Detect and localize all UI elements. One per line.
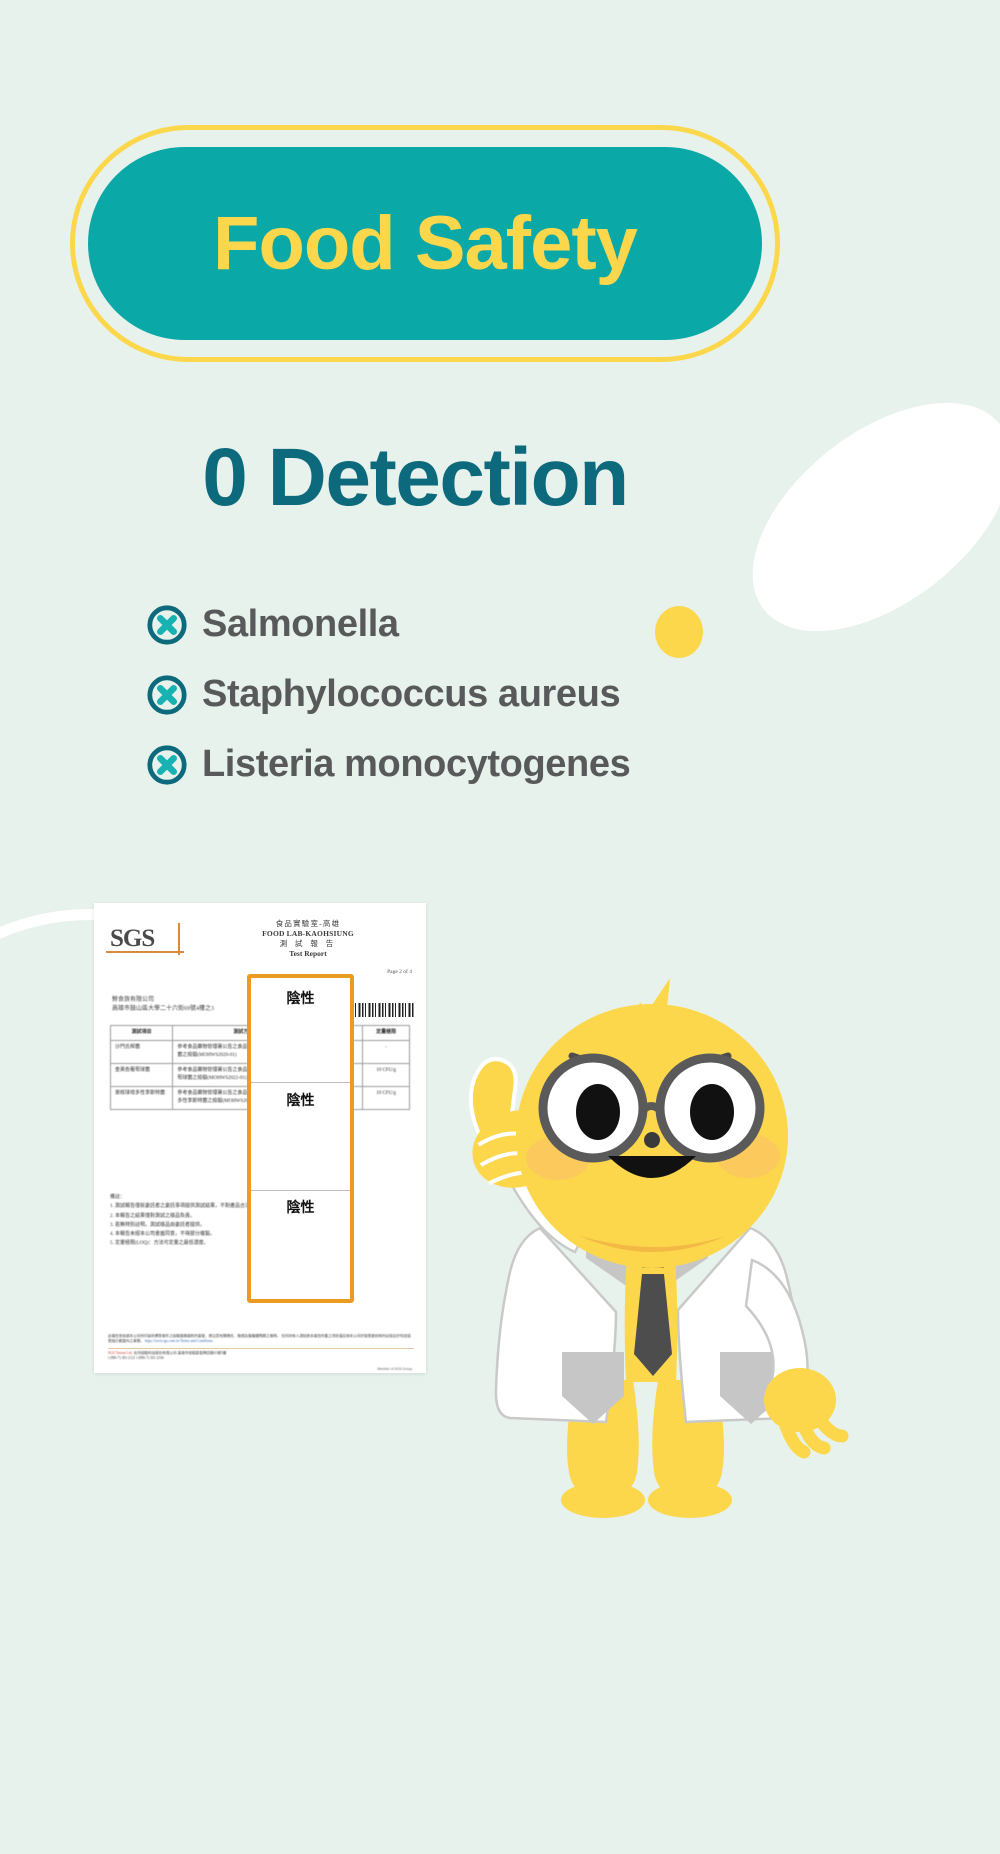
document-title-block: 食品實驗室-高雄 FOOD LAB-KAOHSIUNG 測 試 報 告 Test… bbox=[218, 919, 398, 959]
sgs-logo: SGS bbox=[110, 925, 154, 953]
table-header-cell: 測試項目 bbox=[111, 1026, 173, 1041]
document-footer-company: SGS Taiwan Ltd. 台灣檢驗科技股份有限公司 高雄市前鎮區復興四路6… bbox=[108, 1351, 414, 1367]
table-cell-item: 單核球增多性李斯特菌 bbox=[111, 1087, 173, 1110]
page-title: 0 Detection bbox=[0, 437, 830, 519]
circle-x-icon bbox=[146, 674, 188, 716]
document-header: SGS 食品實驗室-高雄 FOOD LAB-KAOHSIUNG 測 試 報 告 … bbox=[94, 903, 426, 975]
address-line-1: 鮮食族有限公司 bbox=[112, 996, 214, 1005]
footer-phone: t (886-7) 301-2121 f (886-7) 301-2166 bbox=[108, 1356, 414, 1361]
footer-company-address: 台灣檢驗科技股份有限公司 高雄市前鎮區復興四路61號5樓 bbox=[134, 1351, 227, 1355]
negative-results-highlight: 陰性 陰性 陰性 bbox=[247, 974, 354, 1303]
footer-company-name: SGS Taiwan Ltd. bbox=[108, 1351, 133, 1355]
list-item-label: Listeria monocytogenes bbox=[202, 745, 630, 785]
highlight-result: 陰性 bbox=[251, 1090, 350, 1110]
address-line-2: 高雄市鼓山區大學二十六街69號4樓之3 bbox=[112, 1005, 214, 1014]
list-item: Listeria monocytogenes bbox=[146, 744, 906, 786]
list-item: Staphylococcus aureus bbox=[146, 674, 906, 716]
sgs-logo-rule bbox=[106, 951, 184, 953]
highlight-divider bbox=[251, 1190, 350, 1191]
document-title-line4: Test Report bbox=[218, 949, 398, 959]
food-safety-badge: Food Safety bbox=[70, 125, 780, 362]
highlight-result: 陰性 bbox=[251, 1197, 350, 1217]
scientist-mascot bbox=[390, 960, 870, 1520]
document-footer-terms: 此報告係依據本公司所印製的標準條件之檢驗服務總則所簽發，請注意有關責任、賠償及管… bbox=[108, 1334, 414, 1346]
footer-link: https://www.sgs.com.tw/Terms-and-Conditi… bbox=[145, 1339, 213, 1343]
table-cell-item: 金黃色葡萄球菌 bbox=[111, 1064, 173, 1087]
document-title-line3: 測 試 報 告 bbox=[218, 939, 398, 949]
badge-label: Food Safety bbox=[213, 206, 637, 282]
list-item-label: Staphylococcus aureus bbox=[202, 675, 620, 715]
pathogen-checklist: Salmonella Staphylococcus aureus Listeri… bbox=[146, 604, 906, 814]
circle-x-icon bbox=[146, 744, 188, 786]
list-item-label: Salmonella bbox=[202, 605, 399, 645]
table-cell-item: 沙門氏桿菌 bbox=[111, 1041, 173, 1064]
document-title-line1: 食品實驗室-高雄 bbox=[218, 919, 398, 929]
highlight-result: 陰性 bbox=[251, 988, 350, 1008]
poster-stage: Food Safety 0 Detection Salmonella Staph… bbox=[0, 0, 1000, 1854]
highlight-divider bbox=[251, 1082, 350, 1083]
badge-pill: Food Safety bbox=[88, 147, 762, 340]
document-title-line2: FOOD LAB-KAOHSIUNG bbox=[218, 929, 398, 939]
footer-divider bbox=[108, 1348, 414, 1349]
sgs-logo-tick bbox=[178, 923, 180, 955]
list-item: Salmonella bbox=[146, 604, 906, 646]
circle-x-icon bbox=[146, 604, 188, 646]
document-customer-address: 鮮食族有限公司 高雄市鼓山區大學二十六街69號4樓之3 bbox=[112, 996, 214, 1014]
